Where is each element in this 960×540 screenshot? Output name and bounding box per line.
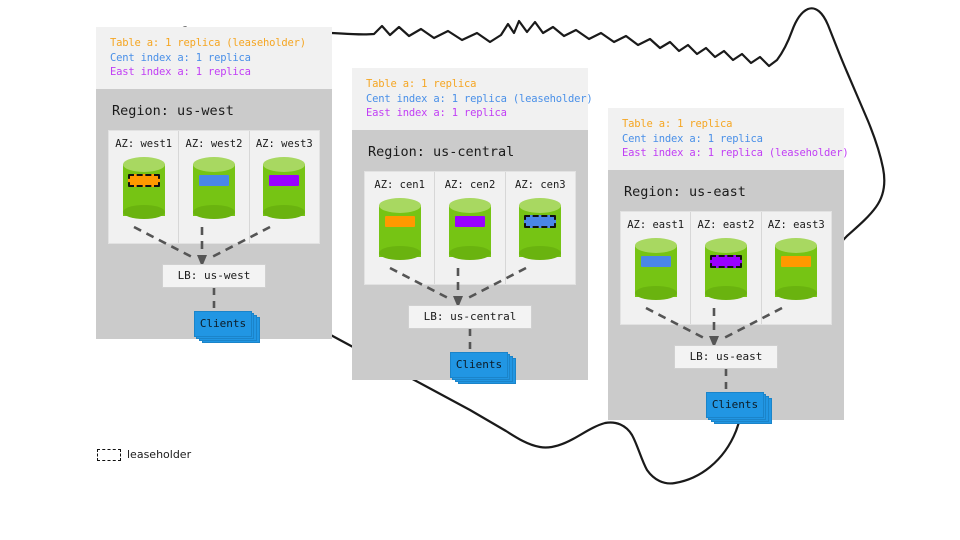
az-cell-west3[interactable]: AZ: west3	[250, 131, 319, 243]
az-label-west2: AZ: west2	[186, 138, 243, 150]
az-row-us-central: AZ: cen1 AZ: cen2	[364, 171, 576, 285]
replica-line-cent-index: Cent index a: 1 replica	[110, 51, 320, 66]
clients-stack-us-east[interactable]: Clients	[706, 392, 772, 424]
az-label-cen2: AZ: cen2	[445, 179, 496, 191]
region-box-us-east: Region: us-east AZ: east1 AZ: east2	[608, 170, 844, 420]
az-label-west3: AZ: west3	[256, 138, 313, 150]
az-cell-east2[interactable]: AZ: east2	[691, 212, 761, 324]
replica-bar-cen1	[385, 216, 415, 227]
replica-bar-cen3-leaseholder	[524, 215, 556, 228]
replica-bar-east2-leaseholder	[710, 255, 742, 268]
clients-label-us-east[interactable]: Clients	[706, 392, 764, 418]
region-title-us-west: Region: us-west	[112, 103, 320, 119]
database-cylinder-east2[interactable]	[705, 238, 747, 304]
database-cylinder-cen2[interactable]	[449, 198, 491, 264]
replica-line-table-a: Table a: 1 replica (leaseholder)	[110, 36, 320, 51]
replica-bar-west1-leaseholder	[128, 174, 160, 187]
dashed-rect-swatch-icon	[97, 449, 121, 461]
region-box-us-central: Region: us-central AZ: cen1 AZ: cen2	[352, 130, 588, 380]
replica-line-table-a: Table a: 1 replica	[622, 117, 832, 132]
az-label-west1: AZ: west1	[115, 138, 172, 150]
lb-box-us-west[interactable]: LB: us-west	[162, 264, 266, 288]
legend-label: leaseholder	[127, 448, 191, 461]
az-cell-cen3[interactable]: AZ: cen3	[506, 172, 575, 284]
az-label-cen3: AZ: cen3	[515, 179, 566, 191]
replica-note-us-west: Table a: 1 replica (leaseholder) Cent in…	[96, 27, 332, 89]
lb-box-us-central[interactable]: LB: us-central	[408, 305, 532, 329]
region-title-us-east: Region: us-east	[624, 184, 832, 200]
cluster-us-west: Table a: 1 replica (leaseholder) Cent in…	[96, 27, 332, 339]
clients-label-us-west[interactable]: Clients	[194, 311, 252, 337]
replica-bar-west3	[269, 175, 299, 186]
replica-line-east-index: East index a: 1 replica	[110, 65, 320, 80]
replica-line-east-index: East index a: 1 replica	[366, 106, 576, 121]
az-cell-east1[interactable]: AZ: east1	[621, 212, 691, 324]
region-title-us-central: Region: us-central	[368, 144, 576, 160]
cluster-us-east: Table a: 1 replica Cent index a: 1 repli…	[608, 108, 844, 420]
replica-bar-west2	[199, 175, 229, 186]
az-cell-west2[interactable]: AZ: west2	[179, 131, 249, 243]
az-label-east2: AZ: east2	[698, 219, 755, 231]
replica-bar-east3	[781, 256, 811, 267]
database-cylinder-west2[interactable]	[193, 157, 235, 223]
diagram-canvas: Table a: 1 replica (leaseholder) Cent in…	[0, 0, 960, 540]
replica-bar-east1	[641, 256, 671, 267]
clients-stack-us-central[interactable]: Clients	[450, 352, 516, 384]
az-row-us-east: AZ: east1 AZ: east2	[620, 211, 832, 325]
az-row-us-west: AZ: west1 AZ: west2	[108, 130, 320, 244]
clients-stack-us-west[interactable]: Clients	[194, 311, 260, 343]
cluster-us-central: Table a: 1 replica Cent index a: 1 repli…	[352, 68, 588, 380]
region-box-us-west: Region: us-west AZ: west1 AZ: west2	[96, 89, 332, 339]
replica-line-east-index: East index a: 1 replica (leaseholder)	[622, 146, 832, 161]
database-cylinder-cen1[interactable]	[379, 198, 421, 264]
database-cylinder-west1[interactable]	[123, 157, 165, 223]
az-cell-cen2[interactable]: AZ: cen2	[435, 172, 505, 284]
replica-note-us-central: Table a: 1 replica Cent index a: 1 repli…	[352, 68, 588, 130]
replica-line-table-a: Table a: 1 replica	[366, 77, 576, 92]
az-label-east3: AZ: east3	[768, 219, 825, 231]
database-cylinder-east3[interactable]	[775, 238, 817, 304]
legend: leaseholder	[97, 448, 191, 461]
database-cylinder-cen3[interactable]	[519, 198, 561, 264]
az-label-cen1: AZ: cen1	[374, 179, 425, 191]
az-cell-west1[interactable]: AZ: west1	[109, 131, 179, 243]
az-cell-east3[interactable]: AZ: east3	[762, 212, 831, 324]
lb-box-us-east[interactable]: LB: us-east	[674, 345, 778, 369]
database-cylinder-west3[interactable]	[263, 157, 305, 223]
replica-bar-cen2	[455, 216, 485, 227]
replica-line-cent-index: Cent index a: 1 replica (leaseholder)	[366, 92, 576, 107]
clients-label-us-central[interactable]: Clients	[450, 352, 508, 378]
replica-note-us-east: Table a: 1 replica Cent index a: 1 repli…	[608, 108, 844, 170]
az-cell-cen1[interactable]: AZ: cen1	[365, 172, 435, 284]
replica-line-cent-index: Cent index a: 1 replica	[622, 132, 832, 147]
az-label-east1: AZ: east1	[627, 219, 684, 231]
database-cylinder-east1[interactable]	[635, 238, 677, 304]
